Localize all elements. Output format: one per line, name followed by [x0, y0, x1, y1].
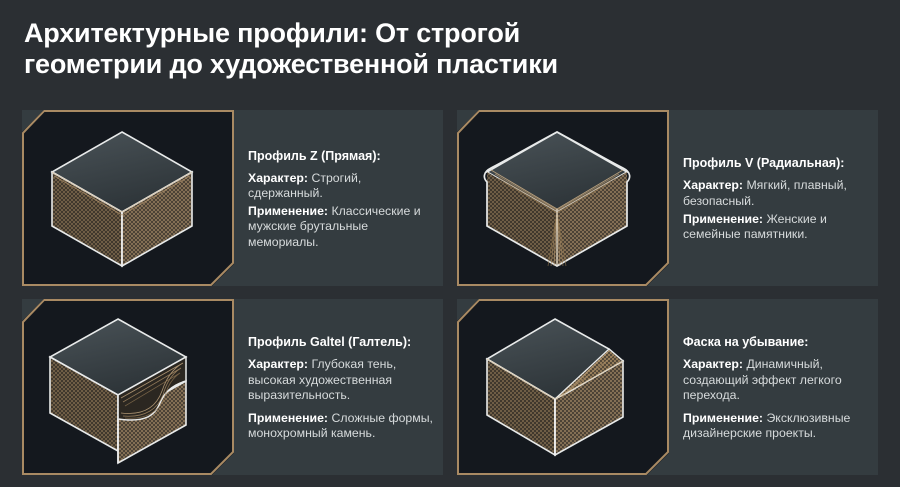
card-title: Фаска на убывание: — [683, 334, 868, 350]
profile-card-galtel[interactable]: Профиль Galtel (Галтель): Характер: Глуб… — [22, 299, 443, 475]
card-application-row: Применение: Эксклюзивные дизайнерские пр… — [683, 411, 868, 442]
cube-straight-illustration — [22, 110, 234, 286]
character-label: Характер: — [248, 357, 308, 371]
profile-text-galtel: Профиль Galtel (Галтель): Характер: Глуб… — [234, 299, 443, 475]
profile-card-z[interactable]: Профиль Z (Прямая): Характер: Строгий, с… — [22, 110, 443, 286]
card-character-row: Характер: Глубокая тень, высокая художес… — [248, 357, 433, 404]
page-title-line-1: Архитектурные профили: От строгой — [24, 18, 864, 49]
profile-text-v: Профиль V (Радиальная): Характер: Мягкий… — [669, 110, 878, 286]
card-character-row: Характер: Мягкий, плавный, безопасный. — [683, 178, 868, 209]
card-title: Профиль V (Радиальная): — [683, 155, 868, 171]
card-character-row: Характер: Динамичный, создающий эффект л… — [683, 357, 868, 404]
profile-image-panel-v — [457, 110, 669, 286]
profile-text-z: Профиль Z (Прямая): Характер: Строгий, с… — [234, 110, 443, 286]
profile-image-panel-chamfer — [457, 299, 669, 475]
application-label: Применение: — [248, 204, 328, 218]
cube-cove-illustration — [22, 299, 234, 475]
card-application-row: Применение: Классические и мужские брута… — [248, 204, 433, 251]
profile-card-chamfer[interactable]: Фаска на убывание: Характер: Динамичный,… — [457, 299, 878, 475]
profile-text-chamfer: Фаска на убывание: Характер: Динамичный,… — [669, 299, 878, 475]
application-label: Применение: — [683, 411, 763, 425]
character-label: Характер: — [683, 357, 743, 371]
card-character-row: Характер: Строгий, сдержанный. — [248, 171, 433, 202]
cube-radial-illustration — [457, 110, 669, 286]
application-label: Применение: — [248, 411, 328, 425]
profile-card-grid: Профиль Z (Прямая): Характер: Строгий, с… — [22, 110, 878, 475]
card-title: Профиль Galtel (Галтель): — [248, 334, 433, 350]
application-label: Применение: — [683, 212, 763, 226]
character-label: Характер: — [683, 178, 743, 192]
profile-image-panel-galtel — [22, 299, 234, 475]
page-title: Архитектурные профили: От строгой геомет… — [24, 18, 864, 80]
profile-image-panel-z — [22, 110, 234, 286]
character-label: Характер: — [248, 171, 308, 185]
infographic-root: Архитектурные профили: От строгой геомет… — [0, 0, 900, 487]
profile-card-v[interactable]: Профиль V (Радиальная): Характер: Мягкий… — [457, 110, 878, 286]
card-application-row: Применение: Женские и семейные памятники… — [683, 212, 868, 243]
cube-chamfer-illustration — [457, 299, 669, 475]
card-title: Профиль Z (Прямая): — [248, 148, 433, 164]
page-title-line-2: геометрии до художественной пластики — [24, 49, 864, 80]
card-application-row: Применение: Сложные формы, монохромный к… — [248, 411, 433, 442]
